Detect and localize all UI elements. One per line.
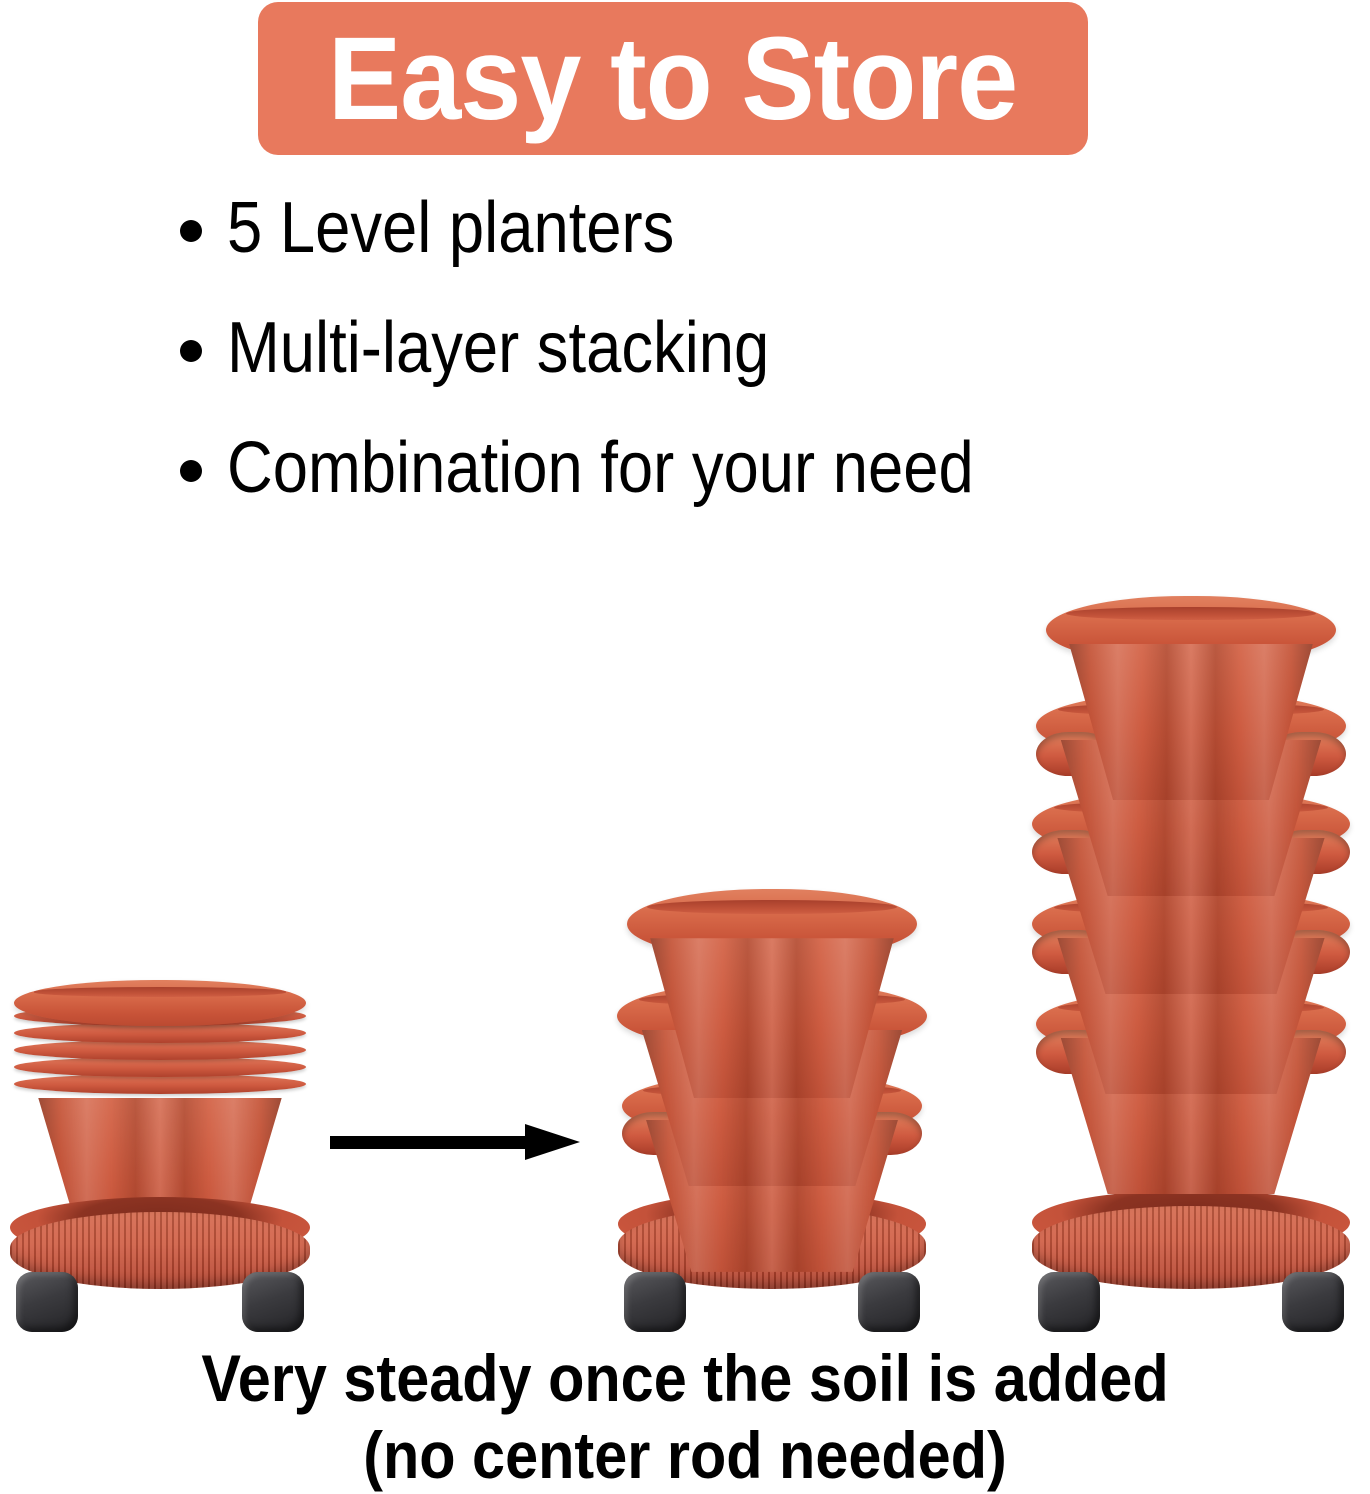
list-item: 5 Level planters — [180, 192, 1300, 312]
planter-tier — [1046, 596, 1336, 796]
nested-rim-group — [14, 984, 306, 1094]
product-three-tier-stack — [612, 820, 932, 1330]
caster-wheel — [1038, 1272, 1100, 1332]
arrow-head — [525, 1124, 580, 1160]
nested-rim-layer — [14, 1040, 306, 1060]
caster-wheel — [858, 1272, 920, 1332]
bullet-dot-icon — [180, 460, 202, 482]
header-banner: Easy to Store — [258, 2, 1088, 155]
arrow-right-icon — [330, 1124, 580, 1160]
caster-wheel — [1282, 1272, 1344, 1332]
nested-rim-layer — [14, 1023, 306, 1043]
arrow-shaft — [330, 1136, 530, 1149]
feature-label: Multi-layer stacking — [227, 312, 769, 384]
tier-body — [650, 938, 894, 1098]
wheeled-caddy-base — [10, 1197, 310, 1302]
product-nested-planters — [0, 1000, 320, 1330]
planter-tier — [627, 889, 917, 1094]
feature-label: Combination for your need — [227, 432, 974, 504]
tier-body — [1069, 644, 1313, 800]
nested-rim-layer — [14, 1074, 306, 1094]
caption-block: Very steady once the soil is added (no c… — [0, 1340, 1370, 1493]
rim-inner-well — [34, 987, 285, 996]
caption-line-2: (no center rod needed) — [69, 1417, 1302, 1494]
rim-inner-well — [1066, 607, 1315, 621]
caption-line-1: Very steady once the soil is added — [69, 1340, 1302, 1417]
wheeled-caddy-base — [1032, 1190, 1350, 1302]
feature-label: 5 Level planters — [227, 192, 674, 264]
nested-rim-layer — [14, 1057, 306, 1077]
bullet-dot-icon — [180, 220, 202, 242]
list-item: Multi-layer stacking — [180, 312, 1300, 432]
page-title: Easy to Store — [328, 20, 1017, 138]
top-rim — [14, 980, 306, 1026]
caster-wheel — [16, 1272, 78, 1332]
caster-wheel — [242, 1272, 304, 1332]
product-scene — [0, 530, 1370, 1330]
bullet-dot-icon — [180, 340, 202, 362]
rim-inner-well — [647, 900, 896, 914]
feature-list: 5 Level planters Multi-layer stacking Co… — [180, 192, 1300, 552]
caster-wheel — [624, 1272, 686, 1332]
product-five-tier-stack — [1026, 540, 1356, 1330]
